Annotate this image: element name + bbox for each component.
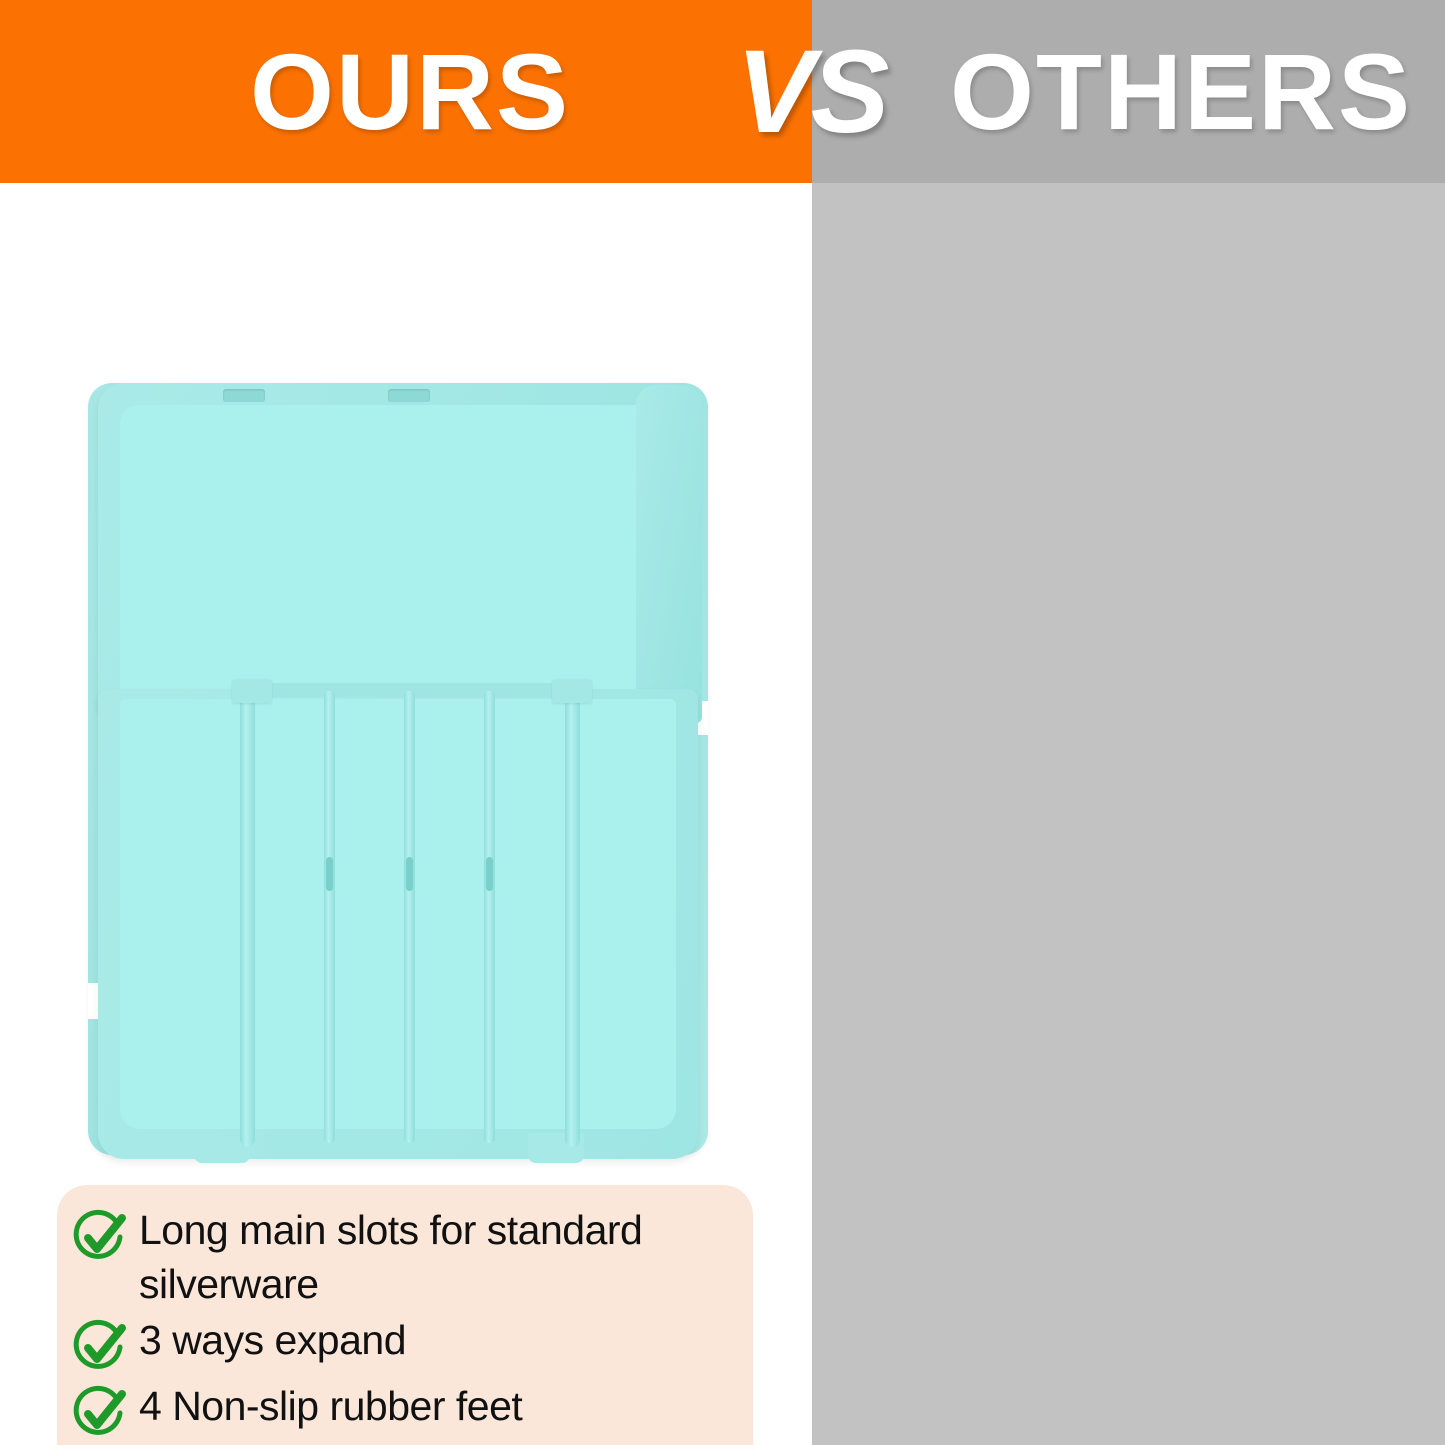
pros-item-label: 4 Non-slip rubber feet [139,1379,522,1433]
teal-latch-tab [232,679,272,703]
header-banner: OURS VS OTHERS [0,0,1445,183]
teal-top-panel-well [120,405,676,705]
teal-groove-notch [223,389,265,402]
pros-item-label: Long main slots for standard silverware [139,1203,739,1311]
check-circle-icon [71,1317,131,1377]
pros-feature-box: Long main slots for standard silverware … [57,1185,753,1445]
teal-organizer-image [88,383,708,1163]
teal-lid-right-flange [636,385,702,723]
teal-top-extra-space-panel [98,383,698,713]
teal-slot-divider-module [240,683,580,1151]
check-circle-icon [71,1207,131,1267]
pros-list-item: 4 Non-slip rubber feet [71,1379,739,1443]
header-vs-label: VS [736,0,885,183]
right-panel: Short main slots 2 ways expand [812,183,1445,1445]
check-circle-icon [71,1383,131,1443]
teal-divider [240,685,255,1147]
comparison-infographic: OURS VS OTHERS [0,0,1445,1445]
teal-groove-dimple [326,857,333,891]
teal-divider [565,685,580,1147]
header-ours-label: OURS [250,0,570,183]
pros-item-label: 3 ways expand [139,1313,406,1367]
teal-groove-notch [388,389,430,402]
teal-divider [324,691,335,1143]
teal-groove-dimple [486,857,493,891]
header-others-label: OTHERS [950,0,1412,183]
left-panel: Long main slots for standard silverware … [0,183,812,1445]
pros-list-item: 3 ways expand [71,1313,739,1377]
teal-latch-tab [552,679,592,703]
teal-groove-dimple [406,857,413,891]
teal-divider [404,691,415,1143]
teal-divider [484,691,495,1143]
pros-list-item: Long main slots for standard silverware [71,1203,739,1311]
